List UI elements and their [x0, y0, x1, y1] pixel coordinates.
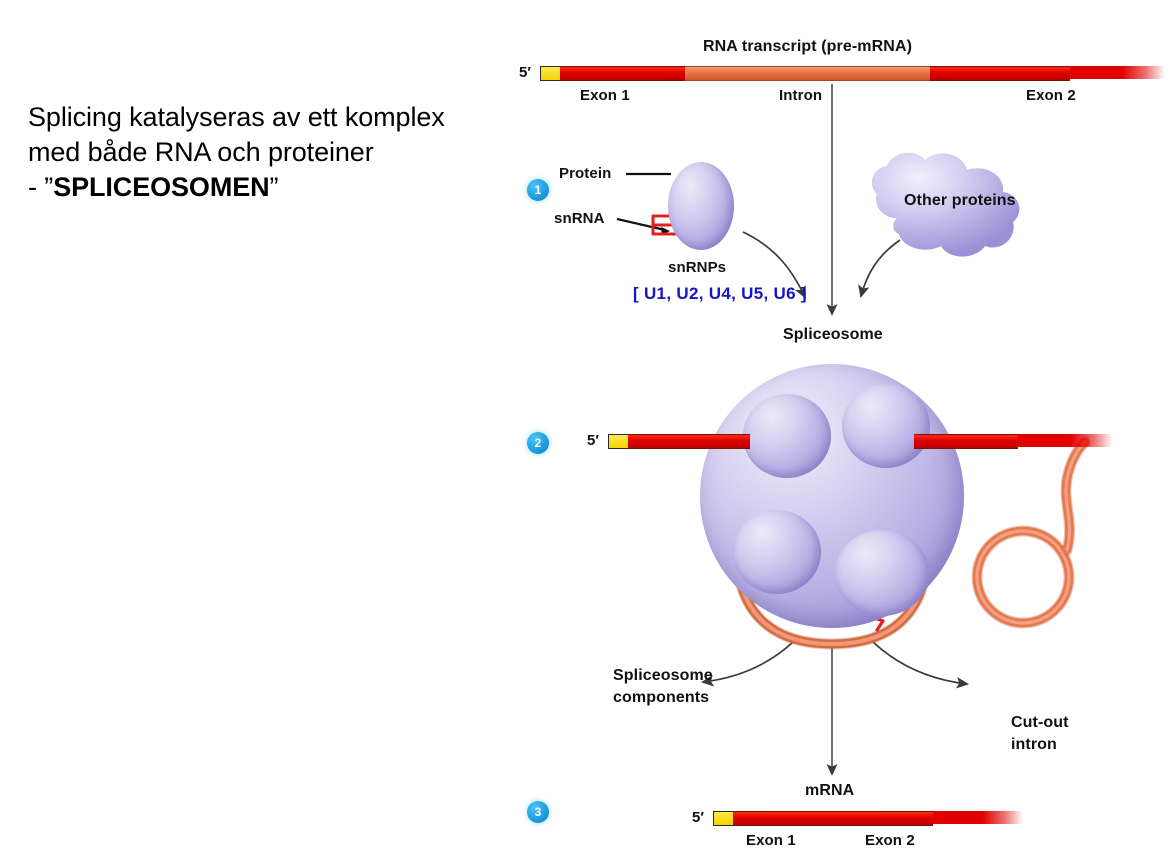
transcript-5prime-cap: [540, 66, 562, 81]
step2-exon2-bar: [914, 434, 1018, 449]
transcript-exon2-fade: [1070, 66, 1165, 79]
rna-transcript-title: RNA transcript (pre-mRNA): [703, 38, 912, 56]
transcript-intron-label: Intron: [779, 87, 822, 104]
spliceosome-snrnp-4: [835, 530, 929, 616]
arrow-other-proteins-to-spliceosome: [861, 240, 900, 296]
leader-arrow-snrna: [661, 227, 670, 235]
caption-line-3: - ”SPLICEOSOMEN”: [28, 170, 498, 205]
spliceosome-snrnp-1: [743, 394, 831, 478]
slide-canvas: Splicing katalyseras av ett komplex med …: [0, 0, 1174, 868]
step-badge-1: 1: [527, 179, 549, 201]
caption-spliceosomen-term: SPLICEOSOMEN: [53, 172, 269, 202]
step3-5prime-label: 5′: [692, 809, 704, 826]
spliceosome-components-label-line1: Spliceosome: [613, 667, 713, 685]
step2-exon1-bar: [628, 434, 750, 449]
spliceosome-components-label-line2: components: [613, 689, 709, 707]
cut-out-intron-label-line1: Cut-out: [1011, 714, 1069, 732]
transcript-exon2-bar: [930, 66, 1070, 81]
caption-line-1: Splicing katalyseras av ett komplex: [28, 100, 498, 135]
spliceosome-snrnp-2: [842, 384, 930, 468]
step3-exon-fade: [933, 811, 1023, 824]
caption-line-3-suffix: ”: [270, 172, 279, 202]
mrna-label: mRNA: [805, 782, 854, 800]
step-badge-3: 3: [527, 801, 549, 823]
snrnp-particle: [668, 162, 734, 250]
caption-text-block: Splicing katalyseras av ett komplex med …: [28, 100, 498, 205]
caption-line-2: med både RNA och proteiner: [28, 135, 498, 170]
step3-exon1-label: Exon 1: [746, 832, 796, 849]
snrna-label: snRNA: [554, 210, 605, 227]
step2-5prime-cap: [608, 434, 630, 449]
snrnps-label: snRNPs: [668, 259, 726, 276]
splicing-diagram: 1 2 3 RNA transcript (pre-mRNA) 5′ Exon …: [505, 22, 1174, 868]
step-badge-2: 2: [527, 432, 549, 454]
transcript-intron-bar: [685, 66, 930, 81]
caption-line-3-prefix: - ”: [28, 172, 53, 202]
arrow-to-cut-out-intron: [873, 642, 967, 684]
arrow-to-spliceosome-components: [703, 642, 793, 682]
spliceosome-label: Spliceosome: [783, 326, 883, 344]
transcript-5prime-label: 5′: [519, 64, 531, 81]
spliceosome-snrnp-3: [733, 510, 821, 594]
protein-label: Protein: [559, 165, 611, 182]
step3-exon2-label: Exon 2: [865, 832, 915, 849]
cut-out-intron-lariat: [977, 442, 1085, 623]
leader-line-snrna: [617, 219, 665, 230]
step2-5prime-label: 5′: [587, 432, 599, 449]
cut-out-intron-label-line2: intron: [1011, 736, 1057, 754]
other-proteins-label: Other proteins: [904, 192, 1016, 210]
snrnp-list-label: [ U1, U2, U4, U5, U6 ]: [633, 284, 807, 304]
step3-5prime-cap: [713, 811, 735, 826]
transcript-exon2-label: Exon 2: [1026, 87, 1076, 104]
step3-exon2-bar: [833, 811, 933, 826]
transcript-exon1-bar: [560, 66, 685, 81]
transcript-exon1-label: Exon 1: [580, 87, 630, 104]
step3-exon1-bar: [733, 811, 833, 826]
step2-exon2-fade: [1018, 434, 1113, 447]
